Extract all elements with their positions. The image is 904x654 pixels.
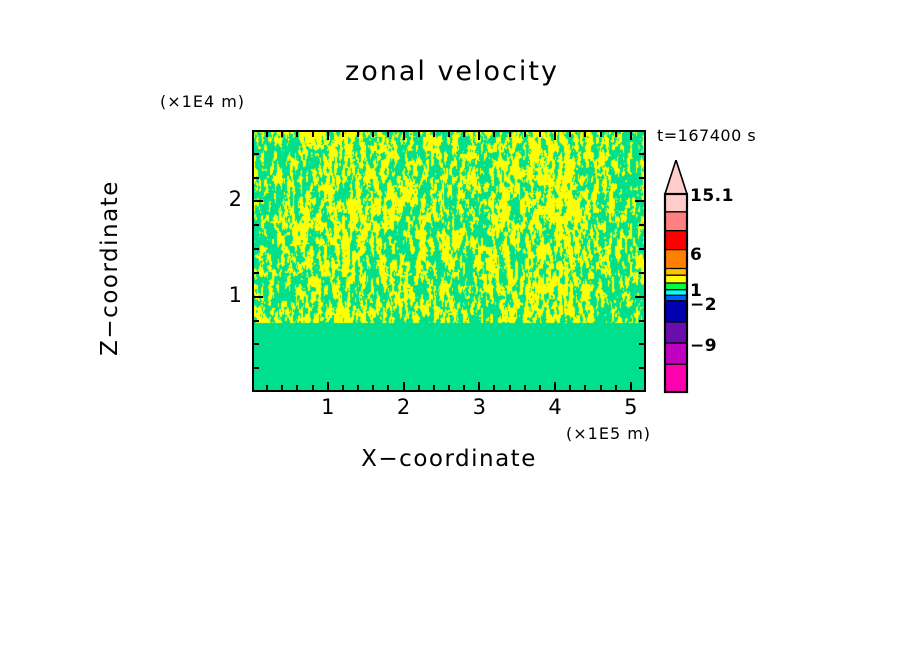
colorbar-band [665, 322, 687, 344]
x-axis-tick-label: 3 [459, 395, 499, 419]
page-title: zonal velocity [0, 56, 904, 87]
y-axis-tick-label: 1 [212, 283, 242, 307]
colorbar-band [665, 301, 687, 323]
x-axis-tick [584, 130, 586, 137]
y-axis-tick [639, 248, 646, 250]
x-axis-tick [281, 130, 283, 137]
x-axis-tick [387, 130, 389, 137]
x-axis-tick [433, 385, 435, 392]
y-axis-tick [252, 248, 259, 250]
colorbar-tick-label: 6 [690, 245, 702, 265]
x-axis-tick [554, 382, 556, 392]
y-axis-tick [639, 367, 646, 369]
x-axis-tick [584, 385, 586, 392]
x-axis-tick [357, 130, 359, 137]
x-axis-tick [600, 130, 602, 137]
y-axis-tick [639, 320, 646, 322]
colorbar-tick-label: −9 [690, 336, 717, 356]
x-axis-tick-label: 4 [535, 395, 575, 419]
y-axis-tick-label: 2 [212, 187, 242, 211]
x-axis-tick [327, 382, 329, 392]
x-axis-tick [418, 385, 420, 392]
x-axis-tick [463, 130, 465, 137]
x-axis-tick [387, 385, 389, 392]
x-axis-tick [403, 130, 405, 140]
y-axis-tick [252, 367, 259, 369]
x-axis-tick [312, 385, 314, 392]
x-axis-tick [266, 130, 268, 137]
x-axis-tick [357, 385, 359, 392]
x-axis-tick [478, 130, 480, 140]
colorbar-band [665, 364, 687, 392]
y-axis-tick [252, 153, 259, 155]
colorbar-arrow-icon [665, 160, 687, 194]
x-axis-tick [630, 130, 632, 140]
x-axis-tick [266, 385, 268, 392]
x-axis-tick [433, 130, 435, 137]
x-axis-tick [493, 385, 495, 392]
y-axis-tick [639, 177, 646, 179]
colorbar-band [665, 343, 687, 365]
x-axis-tick [448, 130, 450, 137]
x-axis-tick [600, 385, 602, 392]
x-axis-tick [418, 130, 420, 137]
x-axis-tick [327, 130, 329, 140]
x-axis-tick [524, 385, 526, 392]
y-axis-tick [252, 200, 263, 202]
x-axis-tick [478, 382, 480, 392]
x-axis-tick [569, 130, 571, 137]
x-axis-tick [312, 130, 314, 137]
y-axis-tick [252, 224, 259, 226]
x-axis-tick [539, 130, 541, 137]
y-axis-tick [252, 177, 259, 179]
x-axis-tick [372, 130, 374, 137]
x-axis-tick-label: 2 [384, 395, 424, 419]
x-axis-tick [493, 130, 495, 137]
x-axis-tick [342, 130, 344, 137]
colorbar-tick-label: −2 [690, 295, 717, 315]
x-axis-tick [403, 382, 405, 392]
x-axis-tick [342, 385, 344, 392]
timestamp-annotation: t=167400 s [657, 126, 756, 145]
x-axis-tick-label: 1 [308, 395, 348, 419]
x-axis-tick [524, 130, 526, 137]
x-axis-units-label: (×1E5 m) [566, 424, 651, 443]
y-axis-tick [252, 320, 259, 322]
y-axis-tick [252, 296, 263, 298]
x-axis-tick [281, 385, 283, 392]
x-axis-tick [569, 385, 571, 392]
x-axis-tick [296, 130, 298, 137]
y-axis-tick [639, 153, 646, 155]
x-axis-tick [509, 130, 511, 137]
colorbar-band [665, 212, 687, 231]
y-axis-tick [252, 272, 259, 274]
colorbar-band [665, 194, 687, 212]
x-axis-tick [296, 385, 298, 392]
y-axis-tick [252, 343, 259, 345]
x-axis-tick [448, 385, 450, 392]
heatmap-plot-area [252, 130, 646, 392]
y-axis-tick [639, 272, 646, 274]
y-axis-tick [639, 224, 646, 226]
y-axis-title: Z−coordinate [97, 138, 123, 398]
x-axis-tick [630, 382, 632, 392]
colorbar-band [665, 250, 687, 269]
colorbar-band [665, 275, 687, 283]
x-axis-tick-label: 5 [611, 395, 651, 419]
x-axis-tick [372, 385, 374, 392]
y-axis-tick [635, 296, 646, 298]
colorbar-band [665, 231, 687, 250]
colorbar-tick-label: 15.1 [690, 186, 734, 206]
x-axis-tick [615, 385, 617, 392]
x-axis-tick [615, 130, 617, 137]
heatmap-canvas [254, 132, 644, 390]
y-axis-tick [639, 343, 646, 345]
y-axis-tick [635, 200, 646, 202]
x-axis-tick [509, 385, 511, 392]
x-axis-tick [463, 385, 465, 392]
x-axis-tick [539, 385, 541, 392]
x-axis-tick [554, 130, 556, 140]
y-axis-units-label: (×1E4 m) [160, 92, 245, 111]
x-axis-title: X−coordinate [252, 446, 646, 472]
